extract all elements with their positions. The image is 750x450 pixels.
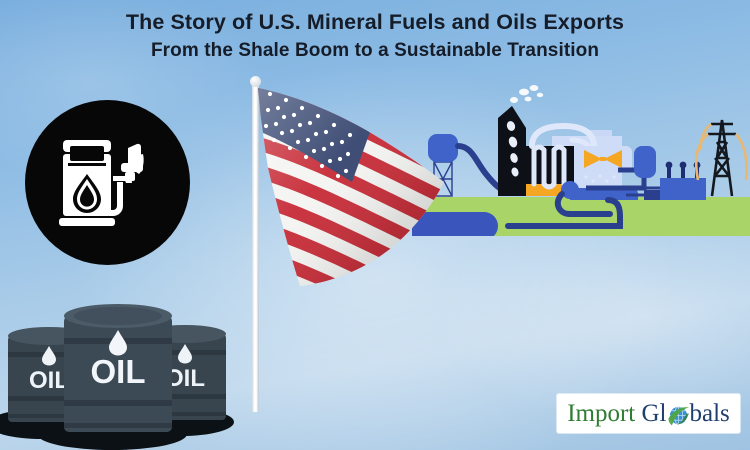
- brand-logo-part-bals: bals: [690, 401, 730, 427]
- list-item: OIL: [64, 304, 172, 432]
- fuel-pump-icon: [57, 130, 161, 234]
- brand-logo[interactable]: Import Glbals: [557, 394, 740, 433]
- promotional-banner: The Story of U.S. Mineral Fuels and Oils…: [0, 0, 750, 450]
- page-subtitle: From the Shale Boom to a Sustainable Tra…: [0, 37, 750, 64]
- page-title: The Story of U.S. Mineral Fuels and Oils…: [0, 8, 750, 36]
- power-plant-illustration: [412, 84, 750, 236]
- svg-text:OIL: OIL: [91, 353, 146, 390]
- power-plant-icon: [412, 84, 750, 236]
- svg-text:OIL: OIL: [29, 367, 69, 394]
- us-flag: [238, 82, 438, 412]
- oil-barrels-group: OIL OIL OIL: [0, 296, 242, 450]
- brand-logo-part-import: Import: [567, 401, 635, 427]
- oil-barrels-icon: OIL OIL OIL: [0, 296, 242, 450]
- flag-cloth-icon: [256, 86, 446, 296]
- brand-logo-text: Import Glbals: [567, 401, 730, 427]
- globe-icon: [667, 404, 690, 427]
- steam-puffs-icon: [510, 85, 543, 103]
- fuel-pump-badge: [25, 100, 190, 265]
- brand-logo-part-gl: Gl: [642, 401, 667, 427]
- banner-headings: The Story of U.S. Mineral Fuels and Oils…: [0, 8, 750, 64]
